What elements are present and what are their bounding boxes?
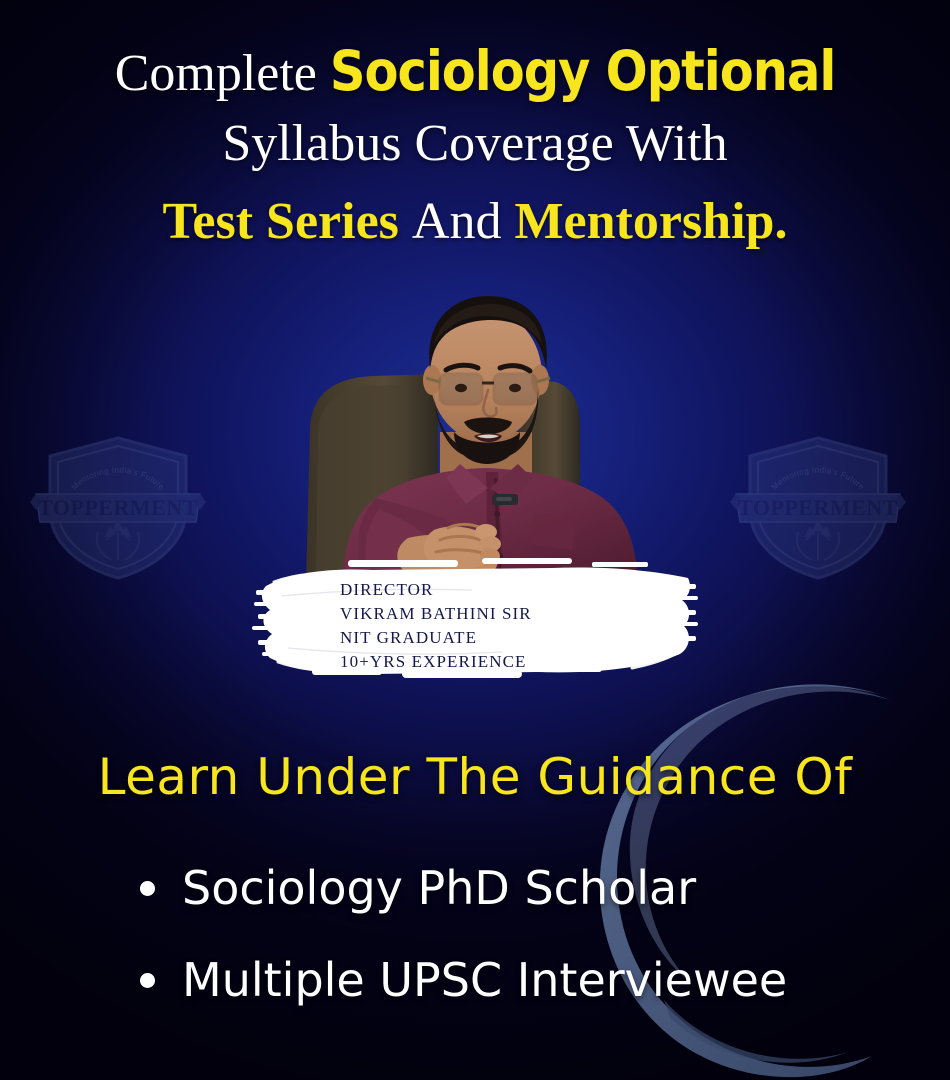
plaque-line-role: DIRECTOR xyxy=(340,578,532,602)
plaque-line-name: VIKRAM BATHINI SIR xyxy=(340,602,532,626)
benefit-label: Multiple UPSC Interviewee xyxy=(182,953,787,1007)
badge-banner-text-left: TOPPERMENT xyxy=(38,495,198,520)
headline-text-sociology-optional: Sociology Optional xyxy=(330,39,835,103)
headline-text-test-series: Test Series xyxy=(163,193,412,250)
benefits-list: Sociology PhD Scholar Multiple UPSC Inte… xyxy=(140,842,900,1026)
headline-line-1: Complete Sociology Optional xyxy=(0,44,950,100)
badge-banner-text-right: TOPPERMENT xyxy=(738,495,898,520)
plaque-line-experience: 10+YRS EXPERIENCE xyxy=(340,650,532,674)
promo-poster: Mentoring India's Future TOPPERMENT xyxy=(0,0,950,1080)
bullet-dot-icon xyxy=(140,973,155,988)
headline-text-syllabus-coverage: Syllabus Coverage With xyxy=(222,115,727,172)
plaque-text-block: DIRECTOR VIKRAM BATHINI SIR NIT GRADUATE… xyxy=(340,578,532,675)
bullet-dot-icon xyxy=(140,881,155,896)
topperment-watermark-badge-left: Mentoring India's Future TOPPERMENT xyxy=(28,432,208,582)
benefit-label: Sociology PhD Scholar xyxy=(182,861,696,915)
headline-text-and: And xyxy=(412,193,515,250)
list-item: Multiple UPSC Interviewee xyxy=(140,934,900,1026)
instructor-photo xyxy=(288,282,692,582)
headline-text-mentorship: Mentorship. xyxy=(514,193,787,250)
guidance-heading: Learn Under The Guidance Of xyxy=(0,748,950,806)
list-item: Sociology PhD Scholar xyxy=(140,842,900,934)
headline-text-complete: Complete xyxy=(115,45,330,102)
topperment-watermark-badge-right: Mentoring India's Future TOPPERMENT xyxy=(728,432,908,582)
plaque-line-education: NIT GRADUATE xyxy=(340,626,532,650)
headline-line-2: Syllabus Coverage With xyxy=(0,118,950,170)
instructor-name-plaque: DIRECTOR VIKRAM BATHINI SIR NIT GRADUATE… xyxy=(252,556,698,684)
headline-line-3: Test Series And Mentorship. xyxy=(0,196,950,248)
